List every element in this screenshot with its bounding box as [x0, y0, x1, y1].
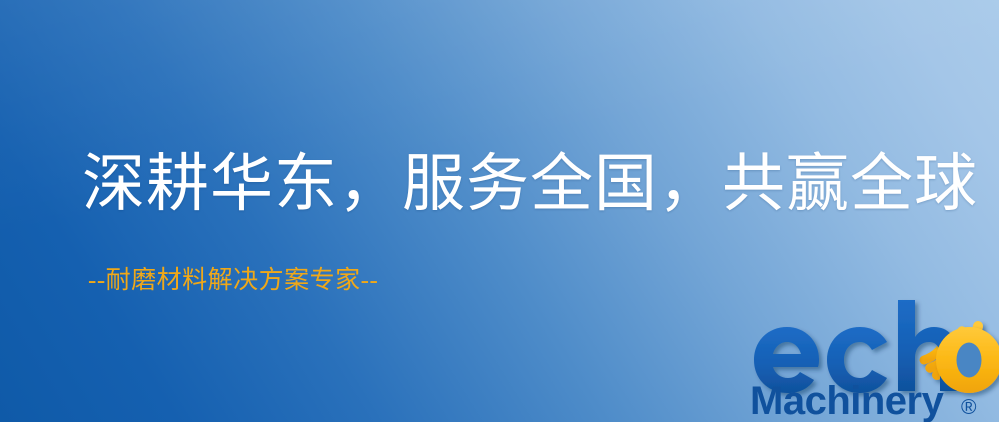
promo-banner: 深耕华东，服务全国，共赢全球 --耐磨材料解决方案专家-- [0, 0, 999, 422]
logo-o-gold [936, 327, 999, 393]
company-logo[interactable]: Machinery ® [748, 296, 999, 422]
logo-tagline-text: Machinery [750, 379, 945, 422]
logo-tagline: Machinery ® [750, 379, 977, 422]
page-title: 深耕华东，服务全国，共赢全球 [82, 153, 978, 216]
page-subtitle: --耐磨材料解决方案专家-- [88, 268, 378, 293]
logo-registered-mark: ® [961, 396, 977, 419]
logo-artwork: Machinery ® [748, 296, 999, 422]
